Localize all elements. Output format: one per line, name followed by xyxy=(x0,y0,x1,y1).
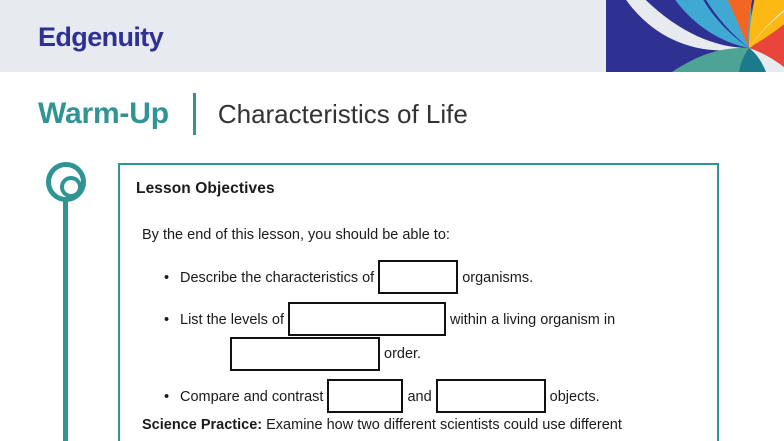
objective-3-blank-1[interactable] xyxy=(327,379,403,413)
pinwheel-petals-logo xyxy=(594,0,784,72)
bullseye-target-icon xyxy=(46,162,86,202)
objective-3-text-a: Compare and contrast xyxy=(180,389,323,405)
objective-1-blank-1[interactable] xyxy=(378,260,458,294)
page-header: Edgenuity xyxy=(0,0,784,72)
objective-2-text-c: order. xyxy=(384,347,421,363)
objective-2-text-a: List the levels of xyxy=(180,312,284,328)
bullet-dot-icon: • xyxy=(164,303,169,337)
objectives-list: • Describe the characteristics oforganis… xyxy=(180,261,719,422)
science-practice-label: Science Practice: xyxy=(142,417,262,433)
timeline-stem-line xyxy=(63,200,68,441)
objective-3-text-b: and xyxy=(407,389,431,405)
lesson-title-text: Characteristics of Life xyxy=(218,101,468,127)
lesson-objectives-card: Lesson Objectives By the end of this les… xyxy=(118,163,719,441)
vertical-divider xyxy=(193,93,196,135)
objective-3-blank-2[interactable] xyxy=(436,379,546,413)
bullseye-inner-ring xyxy=(60,176,82,198)
bullet-dot-icon: • xyxy=(164,380,169,414)
lesson-objectives-heading: Lesson Objectives xyxy=(136,180,275,198)
objective-2-text-b: within a living organism in xyxy=(450,312,615,328)
list-item: • List the levels ofwithin a living orga… xyxy=(180,303,719,371)
objective-2-blank-1[interactable] xyxy=(288,302,446,336)
list-item: • Compare and contrastandobjects. xyxy=(180,380,719,414)
lesson-warmup-page: Edgenuity xyxy=(0,0,784,441)
list-item: • Describe the characteristics oforganis… xyxy=(180,261,719,295)
bullet-dot-icon: • xyxy=(164,261,169,295)
science-practice-text: Examine how two different scientists cou… xyxy=(262,417,622,433)
objective-1-text-b: organisms. xyxy=(462,270,533,286)
objective-1-text-a: Describe the characteristics of xyxy=(180,270,374,286)
objective-3-text-c: objects. xyxy=(550,389,600,405)
edgenuity-logo-wordmark[interactable]: Edgenuity xyxy=(38,24,163,51)
objective-2-blank-2[interactable] xyxy=(230,337,380,371)
lesson-stage-label: Warm-Up xyxy=(38,99,169,129)
page-title: Warm-Up Characteristics of Life xyxy=(38,92,468,136)
timeline-marker xyxy=(46,162,90,441)
lesson-objectives-intro: By the end of this lesson, you should be… xyxy=(142,227,450,243)
science-practice-note: Science Practice: Examine how two differ… xyxy=(142,415,712,435)
